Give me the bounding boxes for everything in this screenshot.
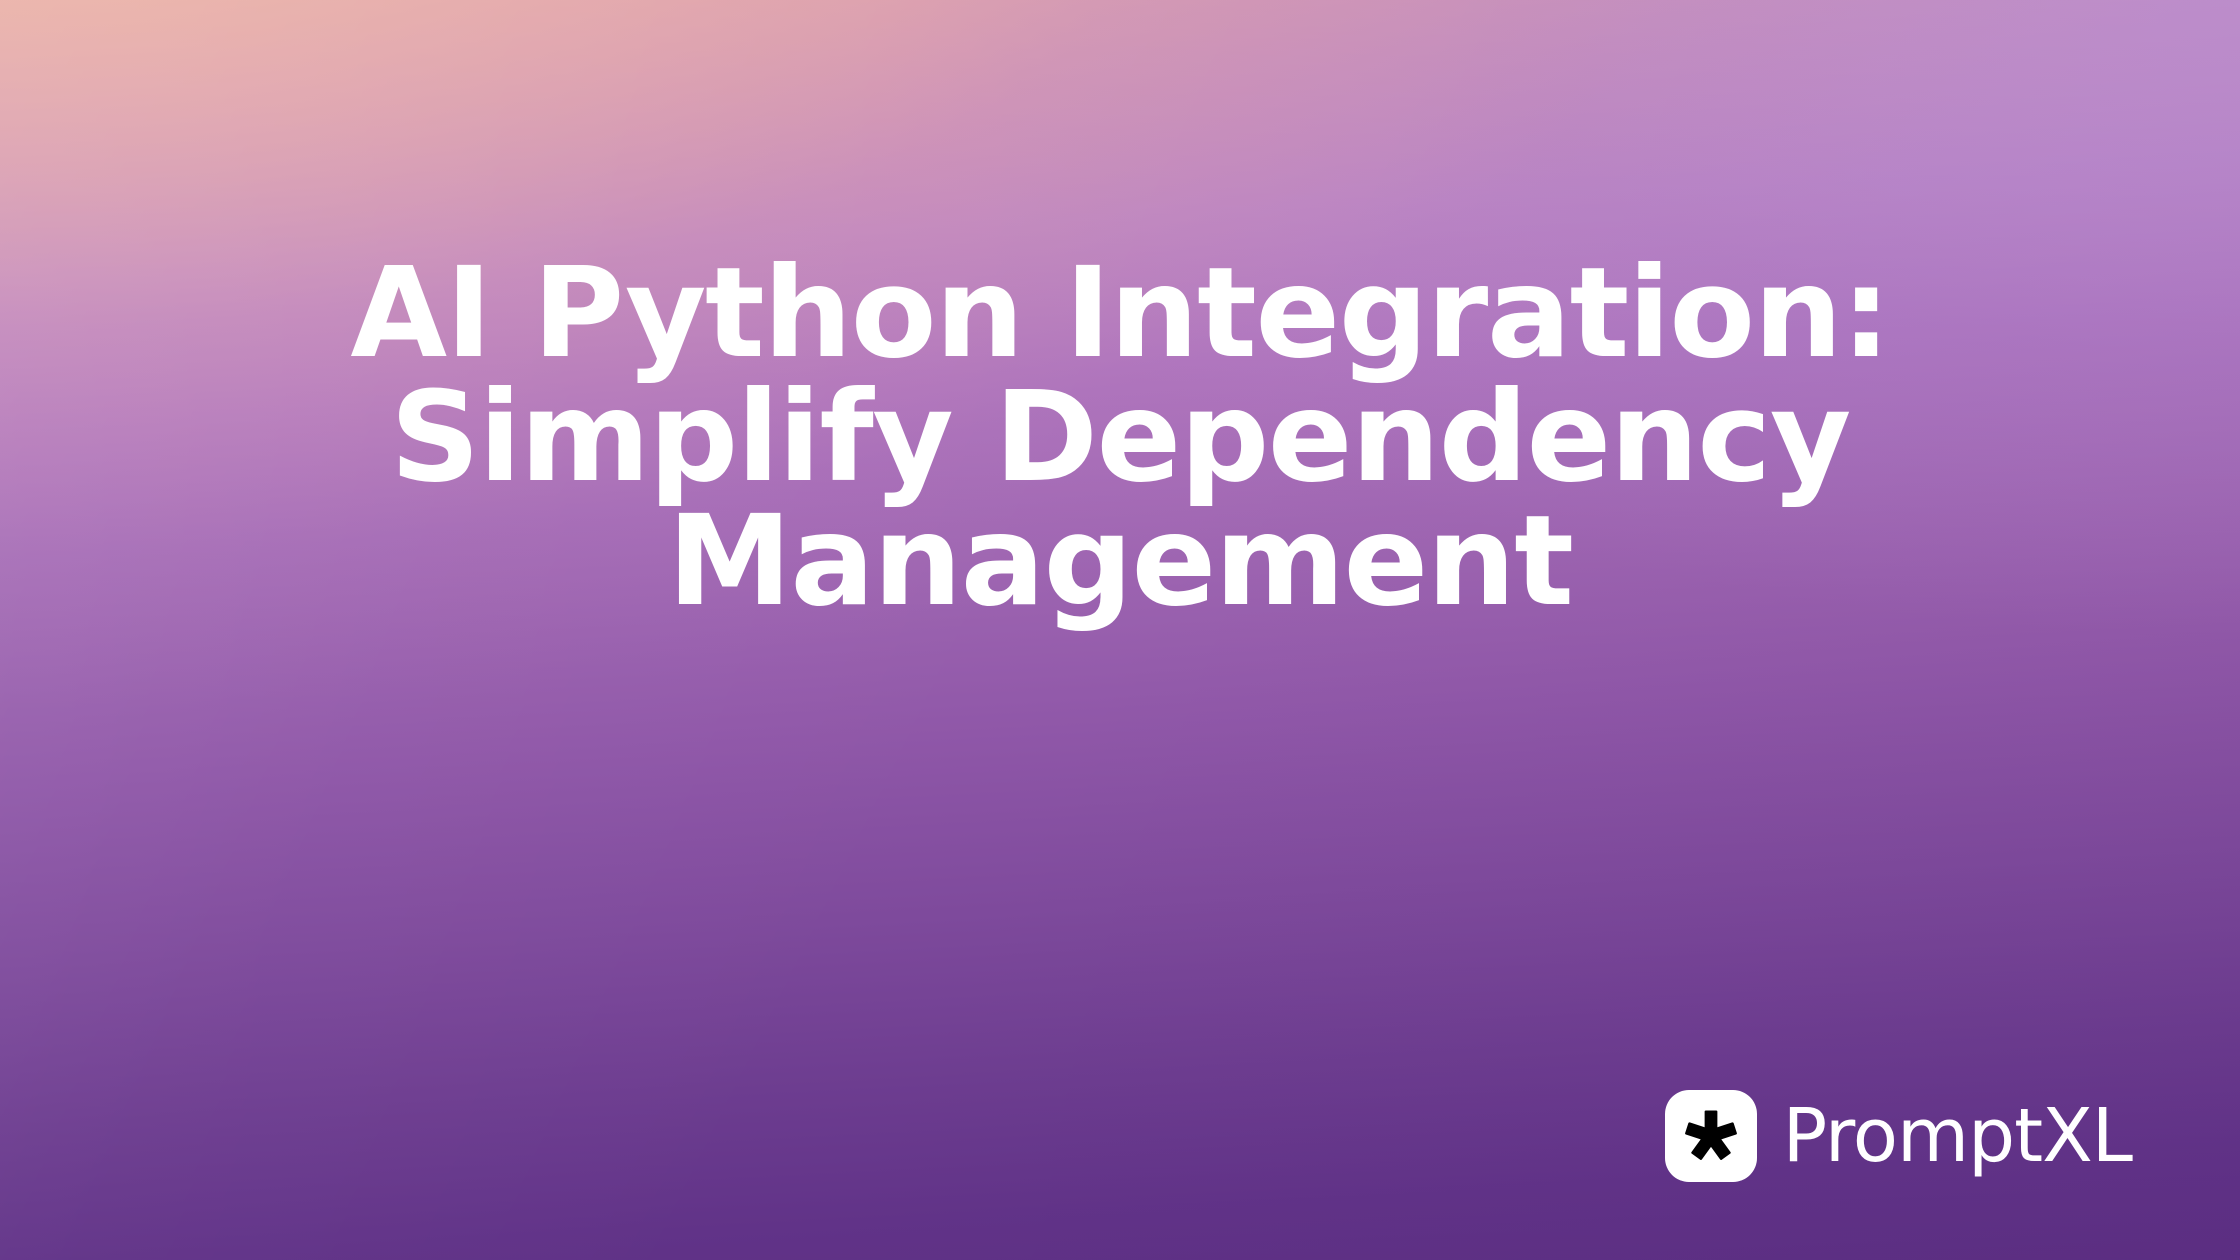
asterisk-icon bbox=[1682, 1107, 1740, 1165]
slide-canvas: AI Python Integration: Simplify Dependen… bbox=[0, 0, 2240, 1260]
brand-logo-tile bbox=[1665, 1090, 1757, 1182]
headline-line-3: Management bbox=[90, 500, 2150, 624]
brand-logo: PromptXL bbox=[1665, 1090, 2132, 1182]
headline-line-2: Simplify Dependency bbox=[90, 376, 2150, 500]
brand-wordmark: PromptXL bbox=[1783, 1098, 2132, 1174]
page-title: AI Python Integration: Simplify Dependen… bbox=[0, 252, 2240, 624]
headline-line-1: AI Python Integration: bbox=[90, 252, 2150, 376]
